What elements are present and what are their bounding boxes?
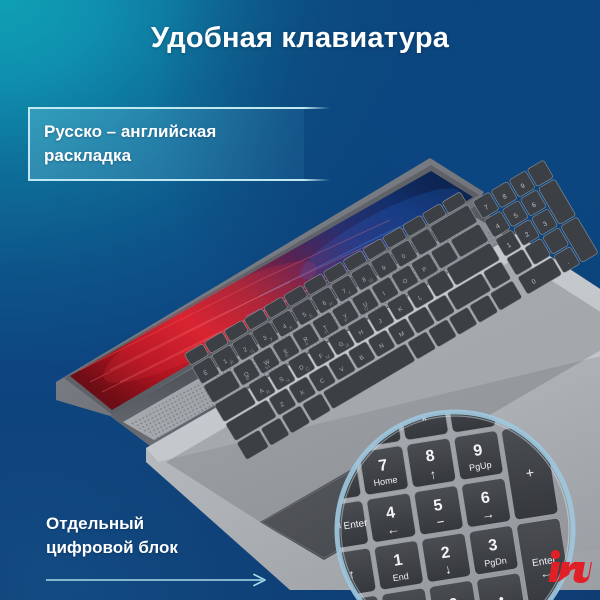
promo-banner: Ё123 4567 890 QWER TYUI OP ASDF GHJK L Z… [0,0,600,600]
iru-logo [540,545,592,585]
callout-layout-line1: Русско – английская [44,120,294,144]
callout-layout-text: Русско – английская раскладка [44,120,294,168]
arrow-right-icon [46,573,272,587]
callout-numpad-line1: Отдельный [46,512,286,536]
svg-text:Lk: Lk [330,426,338,442]
callout-numpad: Отдельный цифровой блок [46,512,286,560]
page-title: Удобная клавиатура [0,22,600,55]
callout-layout: Русско – английская раскладка [28,107,304,181]
svg-text:←: ← [386,521,401,538]
svg-text:/: / [374,420,382,438]
svg-text:→: → [480,506,495,523]
callout-numpad-line2: цифровой блок [46,536,286,560]
callout-layout-line2: раскладка [44,144,294,168]
